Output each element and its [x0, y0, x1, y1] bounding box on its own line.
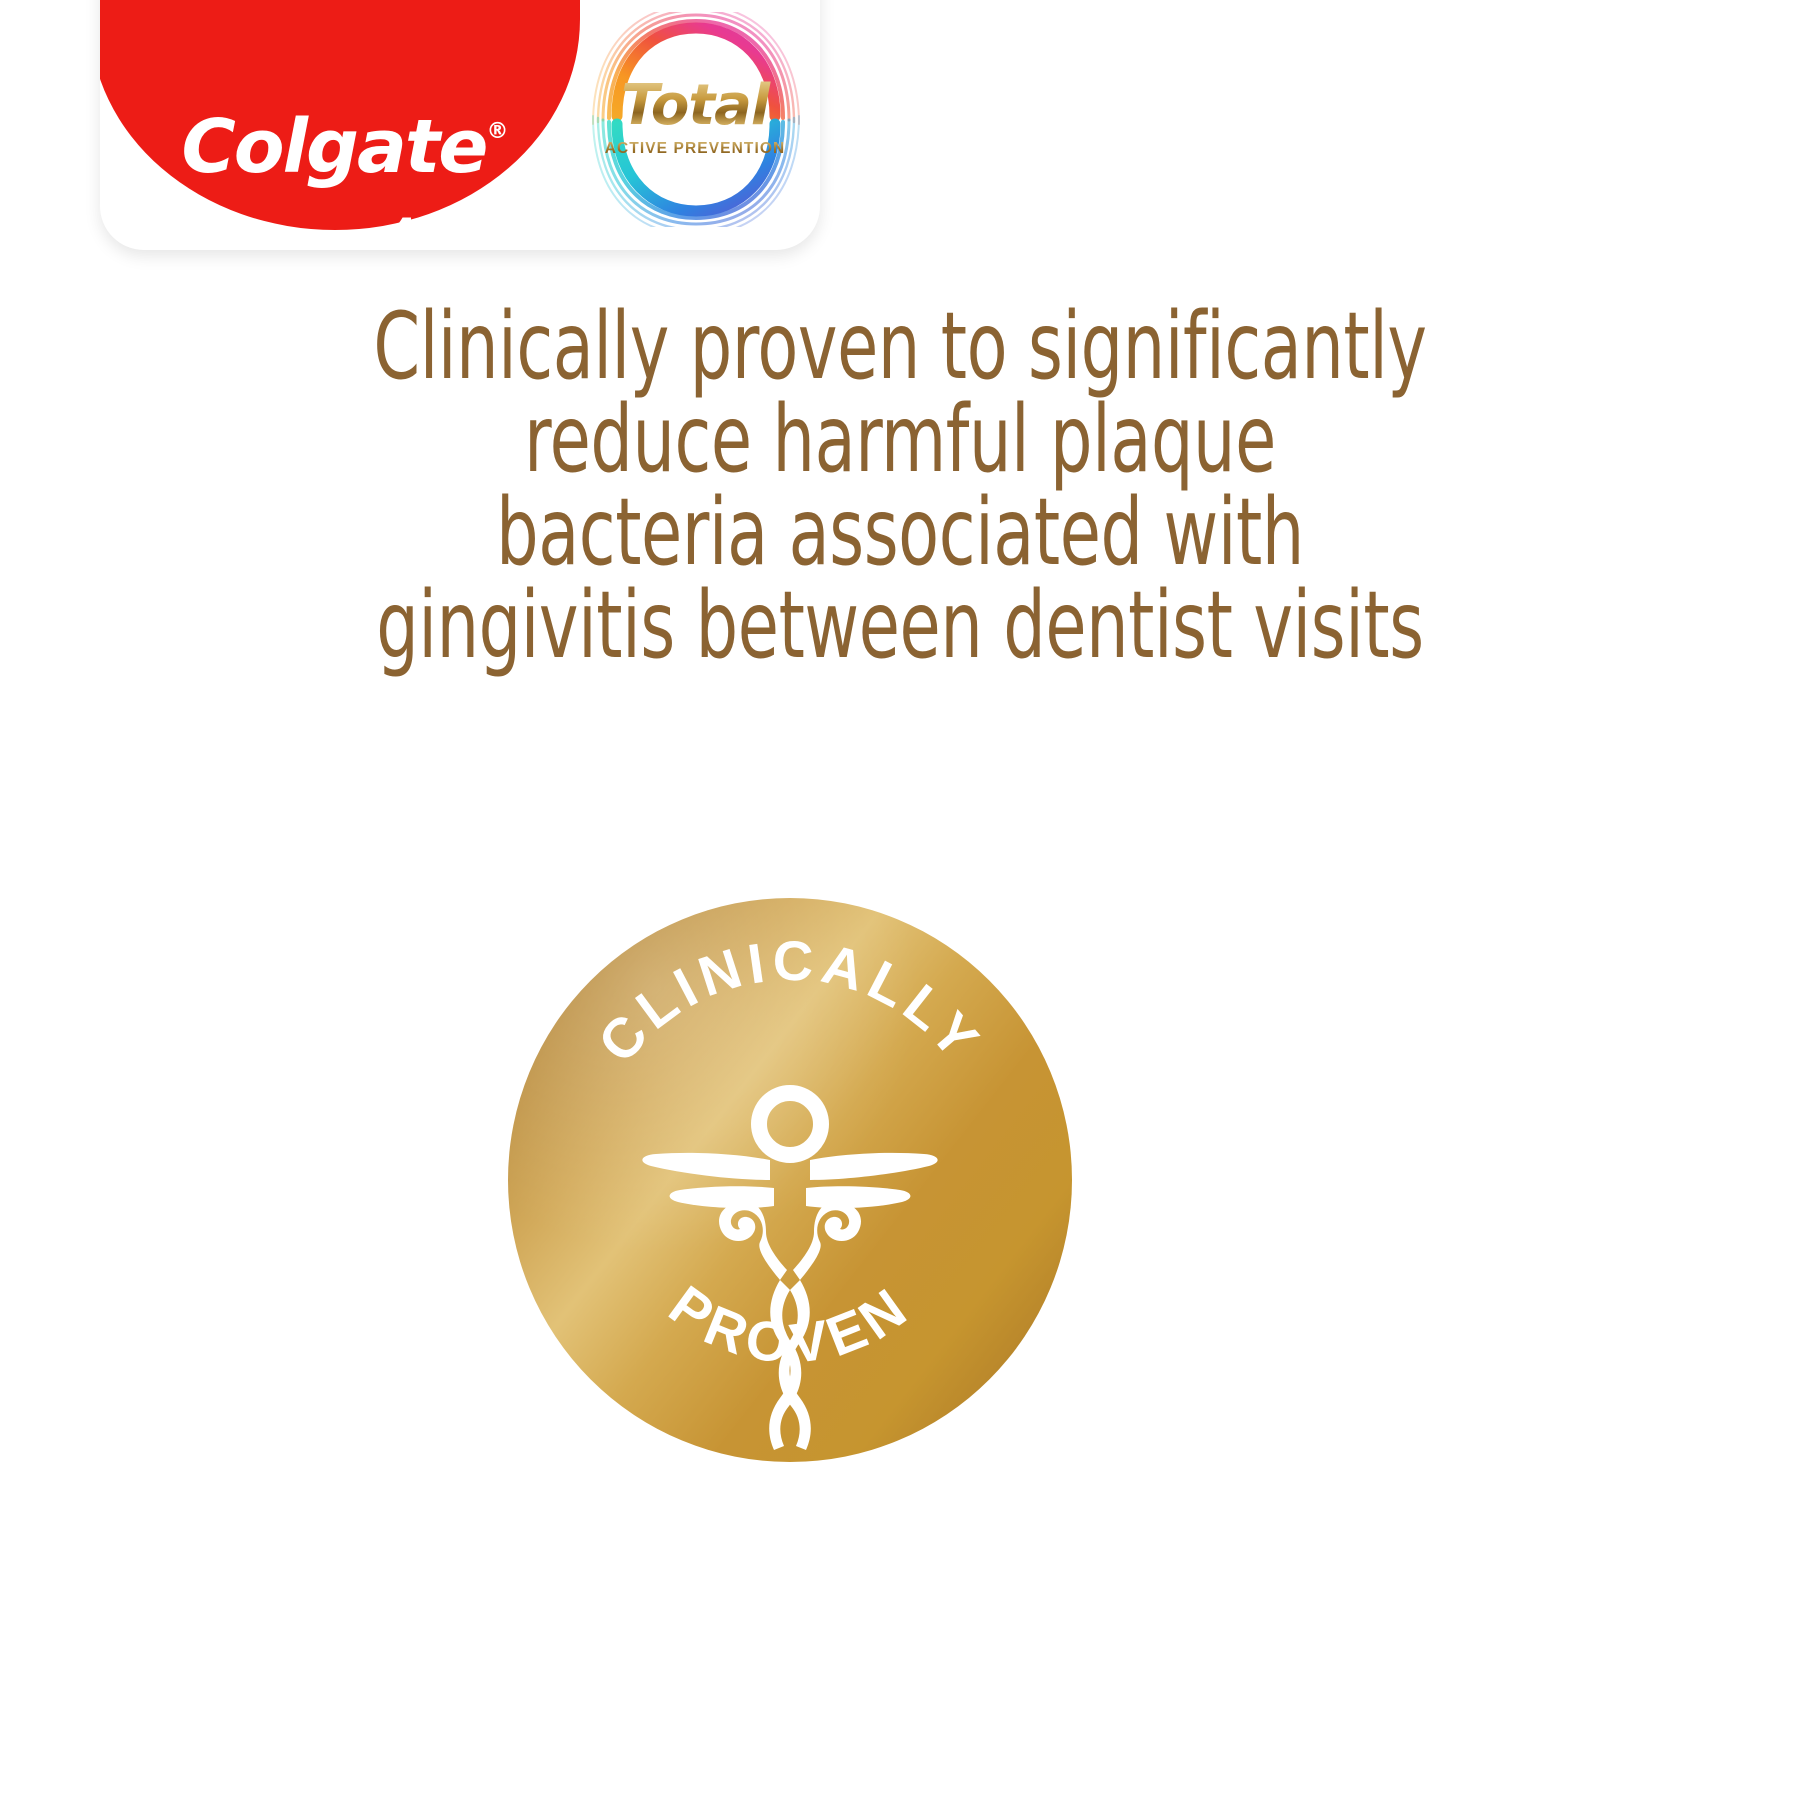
colgate-name: Colgate — [182, 104, 487, 190]
total-wordmark: Total — [570, 78, 820, 134]
badge-contents: CLINICALLY PROVEN — [508, 898, 1072, 1462]
registered-trademark-icon: ® — [486, 119, 508, 144]
colgate-wordmark: Colgate® — [100, 110, 590, 184]
clinically-proven-badge: CLINICALLY PROVEN — [508, 898, 1072, 1462]
headline-line-3: bacteria associated with — [180, 486, 1620, 579]
headline-line-4: gingivitis between dentist visits — [180, 579, 1620, 672]
headline-text: Clinically proven to significantly reduc… — [180, 300, 1620, 672]
badge-top-arc-label: CLINICALLY — [586, 929, 995, 1075]
total-tagline: ACTIVE PREVENTION — [570, 140, 820, 158]
total-sub-brand-logo: Total ACTIVE PREVENTION — [570, 12, 820, 227]
brand-logo-card: Colgate® — [100, 0, 820, 250]
headline-line-2: reduce harmful plaque — [180, 393, 1620, 486]
headline-line-1: Clinically proven to significantly — [180, 300, 1620, 393]
smile-arc-icon — [268, 186, 428, 250]
caduceus-icon — [642, 1093, 937, 1450]
